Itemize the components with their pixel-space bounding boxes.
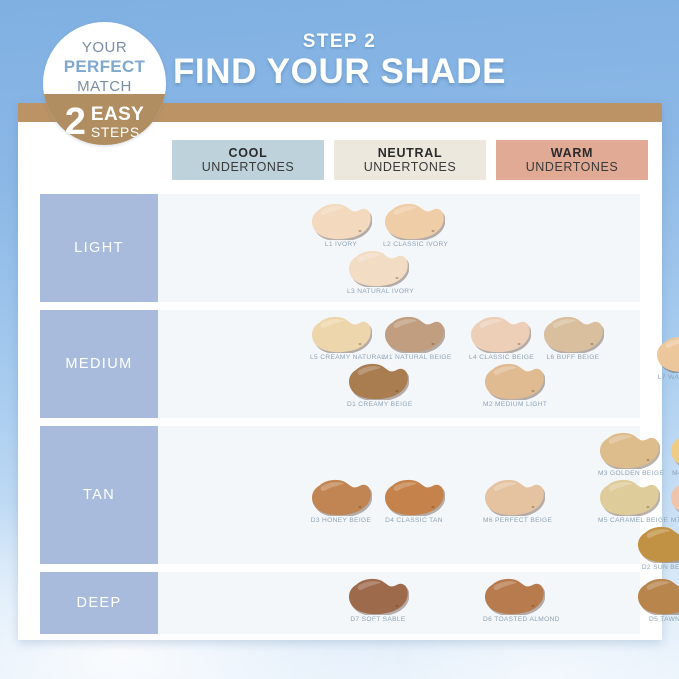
shade-swatch-label: L4 CLASSIC BEIGE [469,354,531,361]
row-swatches: D7 SOFT SABLED6 TOASTED ALMONDD5 TAWNY [158,572,640,634]
row-label-tan[interactable]: TAN [40,426,158,564]
shade-swatch-label: L7 WARM BEIGE [655,374,679,381]
shade-swatch-label: D4 CLASSIC TAN [383,517,445,524]
column-header-neutral-name: NEUTRAL [378,146,443,161]
column-header-warm[interactable]: WARM UNDERTONES [496,140,648,180]
shade-blob-icon [383,202,445,240]
shade-row: DEEPD7 SOFT SABLED6 TOASTED ALMONDD5 TAW… [40,572,640,634]
shade-blob-icon [383,315,445,353]
shade-blob-wrap [669,478,679,516]
shade-blob-icon [598,431,660,469]
badge-step-number: 2 [65,104,86,140]
shade-swatch-label: L2 CLASSIC IVORY [383,241,445,248]
shade-swatch-label: M3 GOLDEN BEIGE [598,470,660,477]
shade-chart-card: COOL UNDERTONES NEUTRAL UNDERTONES WARM … [18,103,662,640]
shade-swatch-label: L1 IVORY [310,241,372,248]
badge-line-perfect: PERFECT [43,57,166,78]
shade-swatch-label: M2 MEDIUM LIGHT [483,401,545,408]
shade-swatch[interactable]: D5 TAWNY [636,577,679,633]
shade-blob-icon [669,478,679,516]
shade-blob-wrap [383,315,445,353]
shade-blob-wrap [636,577,679,615]
shade-swatch-label: M5 CARAMEL BEIGE [598,517,660,524]
shade-blob-icon [483,362,545,400]
shade-swatch-label: M6 PERFECT BEIGE [483,517,545,524]
shade-swatch-label: M4 SAND BEIGE [669,470,679,477]
badge-line-match: MATCH [43,78,166,96]
shade-row: LIGHTL1 IVORYL2 CLASSIC IVORYL3 NATURAL … [40,194,640,302]
shade-swatch[interactable]: L6 BUFF BEIGE [542,315,604,371]
badge-word-easy: EASY [91,105,144,125]
column-header-cool[interactable]: COOL UNDERTONES [172,140,324,180]
row-swatches: M3 GOLDEN BEIGEM4 SAND BEIGED3 HONEY BEI… [158,426,640,564]
shade-swatch-label: D6 TOASTED ALMOND [483,616,545,623]
shade-blob-icon [542,315,604,353]
shade-blob-wrap [598,478,660,516]
shade-swatch-label: D1 CREAMY BEIGE [347,401,409,408]
shade-blob-icon [598,478,660,516]
shade-swatch-label: D7 SOFT SABLE [347,616,409,623]
shade-swatch-label: D2 SUN BEIGE [636,564,679,571]
column-header-neutral[interactable]: NEUTRAL UNDERTONES [334,140,486,180]
perfect-match-badge: YOUR PERFECT MATCH 2 EASY STEPS [43,22,166,145]
badge-steps-text: 2 EASY STEPS [43,104,166,140]
shade-blob-wrap [542,315,604,353]
shade-rows: LIGHTL1 IVORYL2 CLASSIC IVORYL3 NATURAL … [40,194,640,642]
column-header-neutral-sub: UNDERTONES [364,160,457,175]
shade-swatch-label: D3 HONEY BEIGE [310,517,372,524]
shade-blob-icon [669,431,679,469]
column-header-cool-name: COOL [229,146,268,161]
shade-blob-icon [347,249,409,287]
shade-blob-icon [310,478,372,516]
shade-swatch[interactable]: D1 CREAMY BEIGE [347,362,409,418]
shade-swatch[interactable]: D7 SOFT SABLE [347,577,409,633]
shade-row: TANM3 GOLDEN BEIGEM4 SAND BEIGED3 HONEY … [40,426,640,564]
badge-step-words: EASY STEPS [91,105,144,139]
shade-blob-wrap [483,478,545,516]
shade-blob-wrap [310,315,372,353]
shade-blob-icon [310,315,372,353]
row-label-deep[interactable]: DEEP [40,572,158,634]
shade-swatch[interactable]: D3 HONEY BEIGE [310,478,372,534]
row-swatches: L1 IVORYL2 CLASSIC IVORYL3 NATURAL IVORY [158,194,640,302]
shade-swatch[interactable]: L3 NATURAL IVORY [347,249,409,305]
shade-blob-icon [383,478,445,516]
column-header-warm-sub: UNDERTONES [526,160,619,175]
shade-blob-wrap [310,478,372,516]
shade-blob-wrap [347,249,409,287]
shade-blob-icon [636,525,679,563]
shade-blob-wrap [383,202,445,240]
shade-swatch-label: L6 BUFF BEIGE [542,354,604,361]
shade-blob-wrap [347,362,409,400]
shade-swatch-label: L3 NATURAL IVORY [347,288,409,295]
shade-blob-icon [483,577,545,615]
shade-swatch-label: D5 TAWNY [636,616,679,623]
column-header-warm-name: WARM [551,146,593,161]
shade-swatch[interactable]: L7 WARM BEIGE [655,335,679,391]
badge-word-steps: STEPS [91,125,144,139]
shade-blob-wrap [383,478,445,516]
shade-swatch[interactable]: D2 SUN BEIGE [636,525,679,581]
undertone-column-headers: COOL UNDERTONES NEUTRAL UNDERTONES WARM … [172,140,648,180]
shade-blob-wrap [483,577,545,615]
shade-swatch[interactable]: M2 MEDIUM LIGHT [483,362,545,418]
column-header-cool-sub: UNDERTONES [202,160,295,175]
shade-blob-icon [655,335,679,373]
shade-blob-wrap [655,335,679,373]
row-swatches: L5 CREAMY NATURALM1 NATURAL BEIGEL4 CLAS… [158,310,640,418]
badge-top-text: YOUR PERFECT MATCH [43,39,166,96]
row-label-light[interactable]: LIGHT [40,194,158,302]
shade-blob-icon [347,362,409,400]
shade-blob-icon [469,315,531,353]
row-label-medium[interactable]: MEDIUM [40,310,158,418]
shade-swatch[interactable]: D6 TOASTED ALMOND [483,577,545,633]
shade-blob-wrap [483,362,545,400]
shade-blob-wrap [669,431,679,469]
shade-blob-icon [310,202,372,240]
shade-swatch[interactable]: D4 CLASSIC TAN [383,478,445,534]
shade-blob-wrap [310,202,372,240]
shade-row: MEDIUML5 CREAMY NATURALM1 NATURAL BEIGEL… [40,310,640,418]
shade-swatch-label: M1 NATURAL BEIGE [383,354,445,361]
shade-blob-wrap [469,315,531,353]
shade-blob-icon [347,577,409,615]
shade-swatch-label: L5 CREAMY NATURAL [310,354,372,361]
shade-blob-wrap [347,577,409,615]
shade-swatch-label: M7 SOFT HONEY [669,517,679,524]
shade-blob-icon [483,478,545,516]
shade-blob-wrap [598,431,660,469]
shade-blob-wrap [636,525,679,563]
shade-blob-icon [636,577,679,615]
shade-swatch[interactable]: M6 PERFECT BEIGE [483,478,545,534]
badge-line-your: YOUR [43,39,166,57]
